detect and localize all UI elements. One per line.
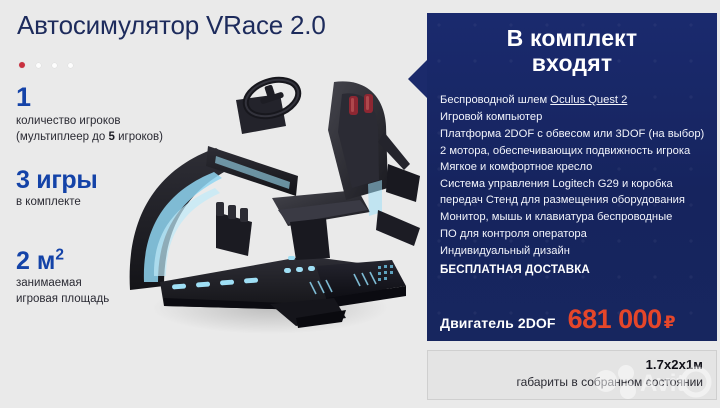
product-image-racing-simulator <box>120 60 420 350</box>
kit-title-line1: В комплект <box>427 26 717 51</box>
kit-panel-title: В комплект входят <box>427 26 717 76</box>
price-amount: 681 000 <box>568 304 662 335</box>
stat-games: 3 игры в комплекте <box>16 168 97 211</box>
carousel-dot-1[interactable] <box>19 62 25 68</box>
kit-panel-arrow-icon <box>408 58 429 100</box>
stat-area: 2 м2 занимаемая игровая площадь <box>16 249 109 307</box>
kit-items-list: Беспроводной шлем Oculus Quest 2 Игровой… <box>427 92 717 278</box>
kit-item: Платформа 2DOF с обвесом или 3DOF (на вы… <box>440 126 705 142</box>
dimensions-label: габариты в собранном состоянии <box>516 375 703 389</box>
kit-item-link-oculus[interactable]: Oculus Quest 2 <box>550 94 627 106</box>
kit-item: Беспроводной шлем Oculus Quest 2 <box>440 92 705 108</box>
page-title: Автосимулятор VRace 2.0 <box>17 10 326 41</box>
kit-item: 2 мотора, обеспечивающих подвижность игр… <box>440 143 705 176</box>
price-currency: ₽ <box>664 313 676 333</box>
carousel-dot-3[interactable] <box>52 63 57 68</box>
kit-item: ПО для контроля оператора <box>440 226 705 242</box>
kit-title-line2: входят <box>427 51 717 76</box>
stat-area-superscript: 2 <box>55 247 64 264</box>
stat-games-line1: в комплекте <box>16 195 97 211</box>
price-label: Двигатель 2DOF <box>440 315 556 331</box>
kit-item: Монитор, мышь и клавиатура беспроводные <box>440 209 705 225</box>
kit-item-free-delivery: БЕСПЛАТНАЯ ДОСТАВКА <box>440 261 705 278</box>
stat-area-value: 2 м2 <box>16 249 109 274</box>
carousel-dots[interactable] <box>19 62 73 68</box>
stat-games-value: 3 игры <box>16 168 97 193</box>
kit-panel: В комплект входят Беспроводной шлем Ocul… <box>427 13 717 341</box>
carousel-dot-4[interactable] <box>68 63 73 68</box>
stat-area-number: 2 м <box>16 247 55 275</box>
dimensions-value: 1.7x2x1м <box>646 357 703 372</box>
dimensions-box: 1.7x2x1м габариты в собранном состоянии <box>427 350 717 400</box>
stat-area-line1: занимаемая <box>16 276 109 292</box>
stat-area-line2: игровая площадь <box>16 292 109 308</box>
stat-players-highlight: 5 <box>108 131 114 143</box>
price-row: Двигатель 2DOF 681 000 ₽ <box>427 304 717 335</box>
kit-item: Индивидуальный дизайн <box>440 243 705 259</box>
kit-item: Игровой компьютер <box>440 109 705 125</box>
ad-card: Автосимулятор VRace 2.0 1 количество игр… <box>0 0 720 408</box>
kit-item: Система управления Logitech G29 и коробк… <box>440 176 705 209</box>
carousel-dot-2[interactable] <box>36 63 41 68</box>
